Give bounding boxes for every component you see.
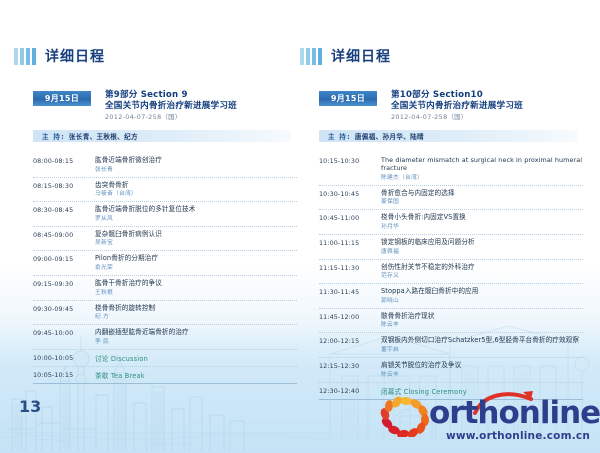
row-body: 肱骨近端骨折脱位的多针复位技术罗从风	[95, 205, 297, 223]
row-topic: 桡骨小头骨折:内固定VS置换	[381, 213, 583, 222]
row-time: 08:15-08:30	[33, 181, 95, 190]
row-time: 09:30-09:45	[33, 304, 95, 313]
row-time: 09:45-10:00	[33, 328, 95, 337]
row-topic: Pilon骨折的分期治疗	[95, 254, 297, 263]
schedule-row: 10:45-11:00桡骨小头骨折:内固定VS置换孙月华	[319, 210, 583, 235]
row-body: Stoppa入路在髋臼骨折中的应用郭晓山	[381, 287, 583, 305]
row-topic: Stoppa入路在髋臼骨折中的应用	[381, 287, 583, 296]
moderator-names: 张长青、王秋根、纪方	[69, 131, 138, 141]
moderator-band: 主 持: 张长青、王秋根、纪方	[33, 130, 291, 142]
logo-url: www.orthonline.com.cn	[446, 430, 590, 442]
section-title-block: 第10部分 Section10 全国关节内骨折治疗新进展学习班 2012-04-…	[391, 90, 523, 123]
page-number: 13	[19, 397, 41, 416]
row-time: 10:45-11:00	[319, 213, 381, 222]
row-topic: 肱骨干骨折治疗的争议	[95, 279, 297, 288]
section-title-main: 第9部分 Section 9	[105, 90, 237, 101]
section-header-left: 9月15日 第9部分 Section 9 全国关节内骨折治疗新进展学习班 201…	[14, 90, 304, 123]
row-speaker: 陈云丰	[381, 321, 583, 329]
row-body: 双钢板内外侧切口治疗Schatzker5型,6型胫骨平台骨折的疗效观察董宇启	[381, 336, 583, 354]
section-title-block: 第9部分 Section 9 全国关节内骨折治疗新进展学习班 2012-04-0…	[105, 90, 237, 123]
row-special-label: 讨论 Discussion	[95, 353, 297, 363]
heading-title: 详细日程	[45, 46, 105, 66]
row-speaker: 吴新宝	[95, 239, 297, 247]
schedule-row: 08:45-09:00复杂髋臼骨折病例认识吴新宝	[33, 227, 297, 252]
heading-title: 详细日程	[331, 46, 391, 66]
row-body: 创伤性肘关节不稳定的外科治疗范存义	[381, 263, 583, 281]
row-body: 茶歇 Tea Break	[95, 370, 297, 380]
section-code: 2012-04-07-258（国）	[105, 113, 237, 123]
row-speaker: 范存义	[381, 272, 583, 280]
section-header-right: 9月15日 第10部分 Section10 全国关节内骨折治疗新进展学习班 20…	[300, 90, 590, 123]
row-speaker: 纪 方	[95, 313, 297, 321]
section-title-main: 第10部分 Section10	[391, 90, 523, 101]
row-topic: 复杂髋臼骨折病例认识	[95, 230, 297, 239]
schedule-row: 08:30-08:45肱骨近端骨折脱位的多针复位技术罗从风	[33, 202, 297, 227]
schedule-row: 09:15-09:30肱骨干骨折治疗的争议王秋根	[33, 276, 297, 301]
logo-swirl-icon	[377, 393, 435, 437]
moderator-label: 主 持:	[42, 131, 65, 141]
moderator-band: 主 持: 唐佩福、孙月华、陆晴	[319, 130, 577, 142]
row-speaker: 罗从风	[95, 215, 297, 223]
row-topic: 齿突骨骨折	[95, 181, 297, 190]
schedule-row: 11:30-11:45Stoppa入路在髋臼骨折中的应用郭晓山	[319, 284, 583, 309]
row-time: 11:00-11:15	[319, 238, 381, 247]
schedule-row: 08:00-08:15肱骨近端骨折微创治疗张长青	[33, 153, 297, 178]
orthonline-logo: orthonline www.orthonline.com.cn	[377, 391, 592, 443]
schedule-table-right: 10:15-10:30The diameter mismatch at surg…	[319, 153, 583, 400]
moderator-names: 唐佩福、孙月华、陆晴	[355, 131, 424, 141]
moderator-label: 主 持:	[328, 131, 351, 141]
row-topic: 肩锁关节脱位的治疗及争议	[381, 361, 583, 370]
row-time: 11:45-12:00	[319, 312, 381, 321]
row-speaker: 唐佩福	[381, 248, 583, 256]
row-body: 肱骨干骨折治疗的争议王秋根	[95, 279, 297, 297]
row-time: 10:05-10:15	[33, 370, 95, 379]
row-time: 08:45-09:00	[33, 230, 95, 239]
section-title-sub: 全国关节内骨折治疗新进展学习班	[105, 101, 237, 112]
row-body: 锁定钢板的临床应用及问题分析唐佩福	[381, 238, 583, 256]
row-speaker: 王秋根	[95, 289, 297, 297]
row-body: The diameter mismatch at surgical neck i…	[381, 156, 583, 182]
schedule-row: 09:00-09:15Pilon骨折的分期治疗俞光荣	[33, 251, 297, 276]
row-topic: 桡骨骨折的旋转控制	[95, 304, 297, 313]
row-time: 09:00-09:15	[33, 254, 95, 263]
row-special-label: 茶歇 Tea Break	[95, 370, 297, 380]
row-speaker: 李 民	[95, 338, 297, 346]
row-body: 肩锁关节脱位的治疗及争议陈云丰	[381, 361, 583, 379]
heading-bars-icon	[14, 48, 36, 65]
row-time: 12:15-12:30	[319, 361, 381, 370]
row-speaker: 孙月华	[381, 223, 583, 231]
row-topic: 内翻嵌插型肱骨近端骨折的治疗	[95, 328, 297, 337]
row-time: 10:00-10:05	[33, 353, 95, 362]
schedule-column-left: 详细日程 9月15日 第9部分 Section 9 全国关节内骨折治疗新进展学习…	[14, 0, 304, 384]
row-body: Pilon骨折的分期治疗俞光荣	[95, 254, 297, 272]
row-speaker: 张长青	[95, 166, 297, 174]
row-topic: 骸骨骨折治疗现状	[381, 312, 583, 321]
row-topic: 肱骨近端骨折脱位的多针复位技术	[95, 205, 297, 214]
row-body: 肱骨近端骨折微创治疗张长青	[95, 156, 297, 174]
page-canvas: 详细日程 9月15日 第9部分 Section 9 全国关节内骨折治疗新进展学习…	[0, 0, 600, 453]
schedule-row: 08:15-08:30齿突骨骨折马筱奋（台湾）	[33, 178, 297, 203]
row-time: 09:15-09:30	[33, 279, 95, 288]
row-time: 11:30-11:45	[319, 287, 381, 296]
row-time: 08:00-08:15	[33, 156, 95, 165]
schedule-row: 10:05-10:15茶歇 Tea Break	[33, 367, 297, 384]
row-body: 骸骨骨折治疗现状陈云丰	[381, 312, 583, 330]
row-speaker: 陈建杰（台湾）	[381, 174, 583, 182]
row-time: 12:30-12:40	[319, 386, 381, 395]
row-body: 内翻嵌插型肱骨近端骨折的治疗李 民	[95, 328, 297, 346]
schedule-column-right: 详细日程 9月15日 第10部分 Section10 全国关节内骨折治疗新进展学…	[300, 0, 590, 400]
section-title-sub: 全国关节内骨折治疗新进展学习班	[391, 101, 523, 112]
row-time: 08:30-08:45	[33, 205, 95, 214]
row-topic: The diameter mismatch at surgical neck i…	[381, 156, 583, 173]
row-body: 骨折愈合与内固定的选择姜保国	[381, 189, 583, 207]
row-time: 10:15-10:30	[319, 156, 381, 165]
schedule-table-left: 08:00-08:15肱骨近端骨折微创治疗张长青08:15-08:30齿突骨骨折…	[33, 153, 297, 384]
row-topic: 骨折愈合与内固定的选择	[381, 189, 583, 198]
schedule-row: 12:00-12:15双钢板内外侧切口治疗Schatzker5型,6型胫骨平台骨…	[319, 333, 583, 358]
row-speaker: 陈云丰	[381, 371, 583, 379]
section-heading-right: 详细日程	[300, 44, 590, 68]
section-heading-left: 详细日程	[14, 44, 304, 68]
row-body: 讨论 Discussion	[95, 353, 297, 363]
row-speaker: 姜保国	[381, 198, 583, 206]
row-topic: 肱骨近端骨折微创治疗	[95, 156, 297, 165]
row-topic: 创伤性肘关节不稳定的外科治疗	[381, 263, 583, 272]
row-topic: 锁定钢板的临床应用及问题分析	[381, 238, 583, 247]
schedule-row: 12:15-12:30肩锁关节脱位的治疗及争议陈云丰	[319, 358, 583, 383]
schedule-row: 10:15-10:30The diameter mismatch at surg…	[319, 153, 583, 186]
heading-bars-icon	[300, 48, 322, 65]
row-time: 12:00-12:15	[319, 336, 381, 345]
row-time: 10:30-10:45	[319, 189, 381, 198]
schedule-row: 11:00-11:15锁定钢板的临床应用及问题分析唐佩福	[319, 235, 583, 260]
row-speaker: 马筱奋（台湾）	[95, 190, 297, 198]
schedule-row: 11:45-12:00骸骨骨折治疗现状陈云丰	[319, 309, 583, 334]
schedule-row: 09:30-09:45桡骨骨折的旋转控制纪 方	[33, 301, 297, 326]
date-badge: 9月15日	[33, 91, 91, 106]
row-body: 复杂髋臼骨折病例认识吴新宝	[95, 230, 297, 248]
row-speaker: 郭晓山	[381, 297, 583, 305]
section-code: 2012-04-07-258（国）	[391, 113, 523, 123]
logo-wordmark: orthonline	[429, 395, 600, 431]
row-body: 齿突骨骨折马筱奋（台湾）	[95, 181, 297, 199]
row-body: 桡骨小头骨折:内固定VS置换孙月华	[381, 213, 583, 231]
row-topic: 双钢板内外侧切口治疗Schatzker5型,6型胫骨平台骨折的疗效观察	[381, 336, 583, 345]
schedule-row: 09:45-10:00内翻嵌插型肱骨近端骨折的治疗李 民	[33, 325, 297, 350]
schedule-row: 10:00-10:05讨论 Discussion	[33, 350, 297, 367]
row-time: 11:15-11:30	[319, 263, 381, 272]
date-badge: 9月15日	[319, 91, 377, 106]
row-speaker: 俞光荣	[95, 264, 297, 272]
row-body: 桡骨骨折的旋转控制纪 方	[95, 304, 297, 322]
row-speaker: 董宇启	[381, 346, 583, 354]
schedule-row: 10:30-10:45骨折愈合与内固定的选择姜保国	[319, 186, 583, 211]
schedule-row: 11:15-11:30创伤性肘关节不稳定的外科治疗范存义	[319, 260, 583, 285]
